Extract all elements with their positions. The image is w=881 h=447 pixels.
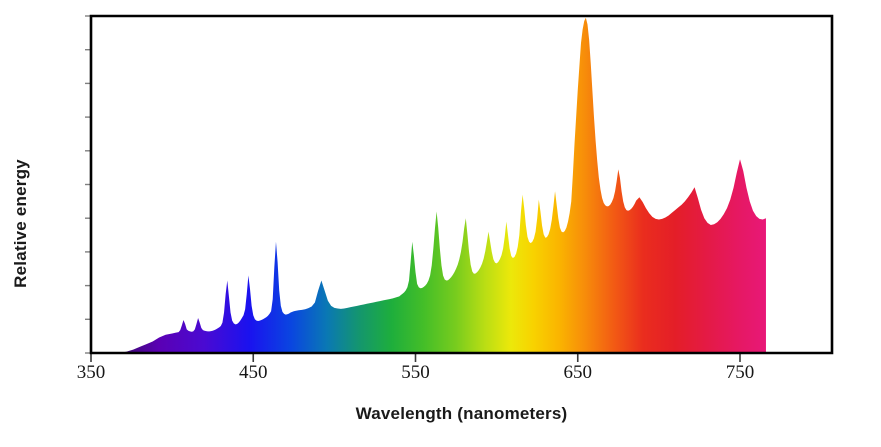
x-tick-label: 550 (401, 362, 430, 384)
x-tick-label: 350 (77, 362, 106, 384)
x-tick-label: 450 (239, 362, 268, 384)
spectral-power-distribution-chart: Relative energy Wavelength (nanometers) … (0, 0, 881, 447)
x-axis-title: Wavelength (nanometers) (91, 404, 832, 424)
x-tick-label: 650 (564, 362, 593, 384)
x-tick-label: 750 (726, 362, 755, 384)
